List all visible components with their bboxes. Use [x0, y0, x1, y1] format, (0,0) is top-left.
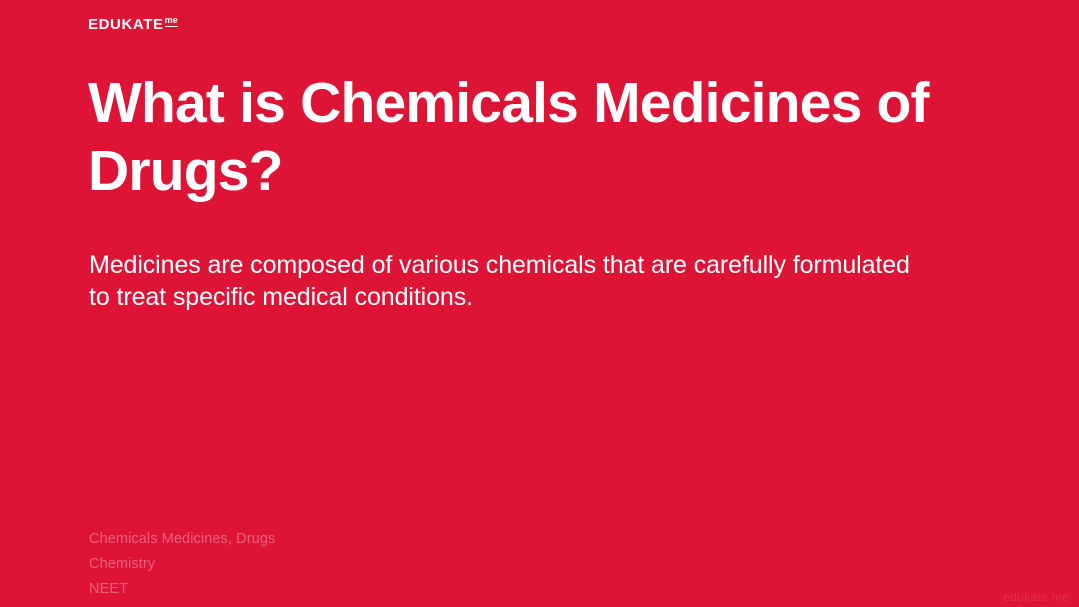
watermark-label: edukate.me [1003, 590, 1069, 604]
footer-tag-list: Chemicals Medicines, Drugs Chemistry NEE… [89, 527, 275, 602]
brand-logo-word: EDUKATE [88, 17, 164, 32]
slide-canvas: EDUKATE me What is Chemicals Medicines o… [0, 0, 1079, 607]
footer-tag-item: Chemicals Medicines, Drugs [89, 527, 275, 552]
slide-title: What is Chemicals Medicines of Drugs? [88, 69, 988, 205]
brand-logo-superscript: me [165, 16, 178, 27]
brand-logo[interactable]: EDUKATE me [88, 17, 178, 32]
slide-body-text: Medicines are composed of various chemic… [89, 249, 919, 313]
footer-tag-item: NEET [89, 577, 275, 602]
footer-tag-item: Chemistry [89, 552, 275, 577]
